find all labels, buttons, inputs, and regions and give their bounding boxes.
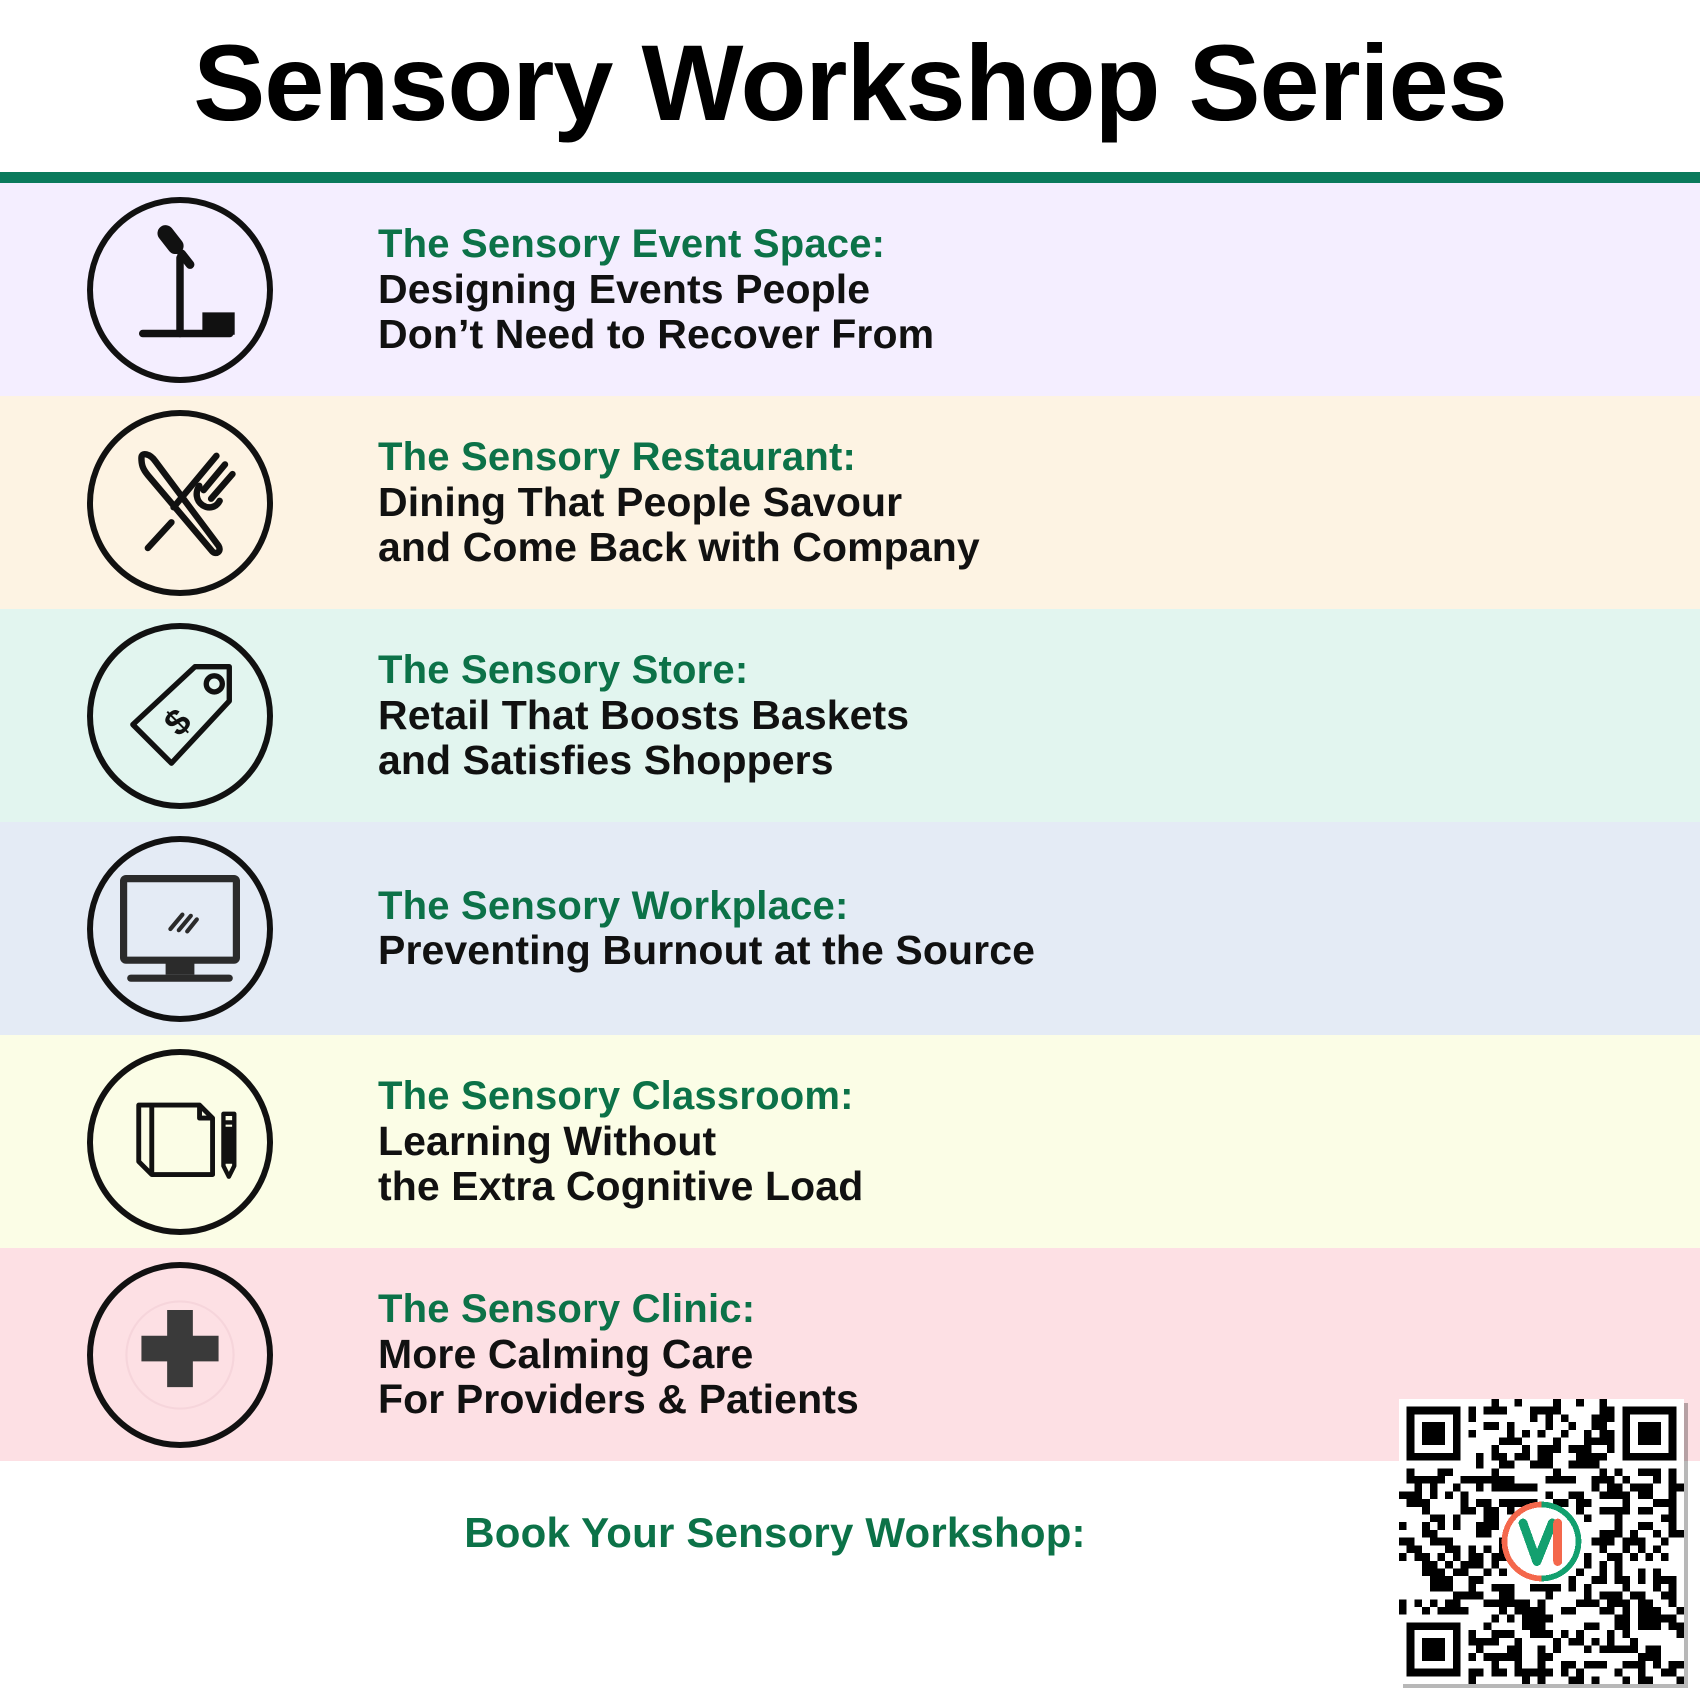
workshop-row-workplace[interactable]: The Sensory Workplace: Preventing Burnou…	[0, 822, 1700, 1035]
workshop-subtitle-line: and Satisfies Shoppers	[378, 738, 909, 783]
workshop-text: The Sensory Classroom: Learning Without …	[360, 1074, 863, 1209]
header-divider-rule	[0, 172, 1700, 183]
knife-fork-icon	[87, 410, 273, 596]
workshop-text: The Sensory Store: Retail That Boosts Ba…	[360, 648, 909, 783]
workshop-heading: The Sensory Workplace:	[378, 884, 1035, 929]
workshop-row-store[interactable]: $ The Sensory Store: Retail That Boosts …	[0, 609, 1700, 822]
workshop-subtitle: Designing Events People Don’t Need to Re…	[378, 267, 934, 357]
workshop-text: The Sensory Event Space: Designing Event…	[360, 222, 934, 357]
workshop-subtitle-line: Retail That Boosts Baskets	[378, 693, 909, 738]
workshop-subtitle-line: the Extra Cognitive Load	[378, 1164, 863, 1209]
workshop-icon-slot: $	[0, 623, 360, 809]
price-tag-dollar-icon: $	[87, 623, 273, 809]
workshop-heading: The Sensory Classroom:	[378, 1074, 863, 1119]
workshop-subtitle-line: Dining That People Savour	[378, 480, 980, 525]
workshop-subtitle: Retail That Boosts Baskets and Satisfies…	[378, 693, 909, 783]
qr-code[interactable]	[1399, 1399, 1684, 1684]
workshop-icon-slot	[0, 410, 360, 596]
workshop-heading: The Sensory Event Space:	[378, 222, 934, 267]
workshop-subtitle-line: Don’t Need to Recover From	[378, 312, 934, 357]
computer-monitor-icon	[87, 836, 273, 1022]
workshop-text: The Sensory Workplace: Preventing Burnou…	[360, 884, 1035, 974]
workshop-subtitle-line: Designing Events People	[378, 267, 934, 312]
notebook-pencil-icon	[87, 1049, 273, 1235]
workshop-heading: The Sensory Restaurant:	[378, 435, 980, 480]
workshop-subtitle-line: More Calming Care	[378, 1332, 859, 1377]
workshop-row-event-space[interactable]: The Sensory Event Space: Designing Event…	[0, 183, 1700, 396]
poster-canvas: Sensory Workshop Series	[0, 0, 1700, 1700]
workshop-text: The Sensory Clinic: More Calming Care Fo…	[360, 1287, 859, 1422]
page-title: Sensory Workshop Series	[193, 29, 1507, 143]
workshop-icon-slot	[0, 836, 360, 1022]
workshop-icon-slot	[0, 197, 360, 383]
workshop-heading: The Sensory Store:	[378, 648, 909, 693]
workshop-subtitle-line: For Providers & Patients	[378, 1377, 859, 1422]
header: Sensory Workshop Series	[0, 0, 1700, 172]
workshop-heading: The Sensory Clinic:	[378, 1287, 859, 1332]
medical-cross-icon	[87, 1262, 273, 1448]
workshop-list: The Sensory Event Space: Designing Event…	[0, 183, 1700, 1461]
workshop-row-classroom[interactable]: The Sensory Classroom: Learning Without …	[0, 1035, 1700, 1248]
workshop-subtitle: Dining That People Savour and Come Back …	[378, 480, 980, 570]
workshop-subtitle: Learning Without the Extra Cognitive Loa…	[378, 1119, 863, 1209]
workshop-subtitle: More Calming Care For Providers & Patien…	[378, 1332, 859, 1422]
workshop-icon-slot	[0, 1262, 360, 1448]
workshop-subtitle: Preventing Burnout at the Source	[378, 928, 1035, 973]
microphone-stage-icon	[87, 197, 273, 383]
workshop-icon-slot	[0, 1049, 360, 1235]
workshop-subtitle-line: and Come Back with Company	[378, 525, 980, 570]
workshop-text: The Sensory Restaurant: Dining That Peop…	[360, 435, 980, 570]
workshop-subtitle-line: Learning Without	[378, 1119, 863, 1164]
workshop-subtitle-line: Preventing Burnout at the Source	[378, 928, 1035, 973]
workshop-row-restaurant[interactable]: The Sensory Restaurant: Dining That Peop…	[0, 396, 1700, 609]
